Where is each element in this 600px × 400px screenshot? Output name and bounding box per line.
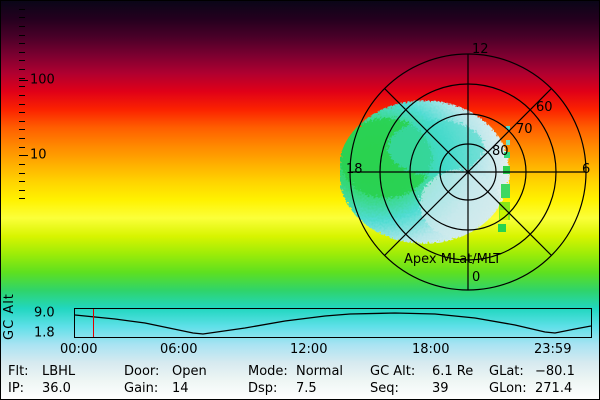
colorbar-minor-tick [19,181,25,182]
status-value-gcalt: 6.1 Re [432,364,473,379]
status-label-dsp: Dsp: [248,381,277,396]
colorbar-minor-tick [19,173,25,174]
colorbar-minor-tick [19,26,25,27]
colorbar-tick-label-10: 10 [30,149,47,162]
colorbar-minor-tick [19,17,25,18]
polar-panel-caption: Apex MLat/MLT [404,252,501,267]
status-label-mode: Mode: [248,364,288,379]
orbit-altitude-plot[interactable] [74,308,592,338]
status-label-glon: GLon: [489,381,527,396]
colorbar-minor-tick [19,35,25,36]
colorbar-minor-tick [19,198,25,199]
colorbar-major-tick-10 [19,155,28,156]
orbit-xtick-3: 18:00 [412,342,449,357]
colorbar: 10010 [0,0,19,207]
orbit-ytick-high: 9.0 [34,307,55,320]
colorbar-minor-tick [19,52,25,53]
colorbar-minor-tick [19,60,25,61]
status-label-door: Door: [124,364,159,379]
status-value-glon: 271.4 [535,381,572,396]
mlt-label-0: 0 [472,270,480,285]
status-label-flt: Flt: [8,364,29,379]
uvi-display: Ultraviolet Imager 21 Nov 07 00:49:53 UT [0,0,600,400]
colorbar-minor-tick [19,43,25,44]
colorbar-minor-tick [19,129,25,130]
status-value-door: Open [172,364,207,379]
orbit-altitude-track [75,309,591,337]
colorbar-minor-tick [19,190,25,191]
status-label-gcalt: GC Alt: [370,364,415,379]
status-value-mode: Normal [296,364,343,379]
colorbar-major-tick-100 [19,80,28,81]
mlat-ring-label-70: 70 [516,122,533,137]
colorbar-minor-tick [19,164,25,165]
colorbar-minor-tick [19,86,25,87]
mlat-ring-label-80: 80 [492,144,509,159]
current-time-marker [93,309,94,337]
status-value-gain: 14 [172,381,189,396]
orbit-ytick-low: 1.8 [34,327,55,340]
colorbar-minor-tick [19,69,25,70]
colorbar-minor-tick [19,95,25,96]
orbit-xtick-2: 12:00 [290,342,327,357]
status-value-ip: 36.0 [42,381,71,396]
status-value-dsp: 7.5 [296,381,317,396]
colorbar-minor-tick [19,104,25,105]
mlt-label-18: 18 [346,162,363,177]
orbit-y-axis-label: GC Alt [2,293,17,340]
status-value-flt: LBHL [42,364,75,379]
status-label-ip: IP: [8,381,24,396]
colorbar-minor-tick [19,112,25,113]
status-label-gain: Gain: [124,381,158,396]
colorbar-minor-tick [19,78,25,79]
status-label-glat: GLat: [489,364,524,379]
mlt-label-6: 6 [582,162,590,177]
mlt-label-12: 12 [472,42,489,57]
colorbar-minor-tick [19,9,25,10]
orbit-xtick-1: 06:00 [160,342,197,357]
orbit-xtick-0: 00:00 [60,342,97,357]
status-value-seq: 39 [432,381,449,396]
colorbar-minor-tick [19,138,25,139]
colorbar-minor-tick [19,147,25,148]
orbit-xtick-4: 23:59 [534,342,571,357]
mlat-ring-label-60: 60 [536,100,553,115]
status-value-glat: −80.1 [535,364,575,379]
colorbar-tick-label-100: 100 [30,73,55,86]
status-label-seq: Seq: [370,381,399,396]
colorbar-minor-tick [19,121,25,122]
status-bar: Flt:LBHLDoor:OpenMode:NormalGC Alt:6.1 R… [0,364,600,400]
